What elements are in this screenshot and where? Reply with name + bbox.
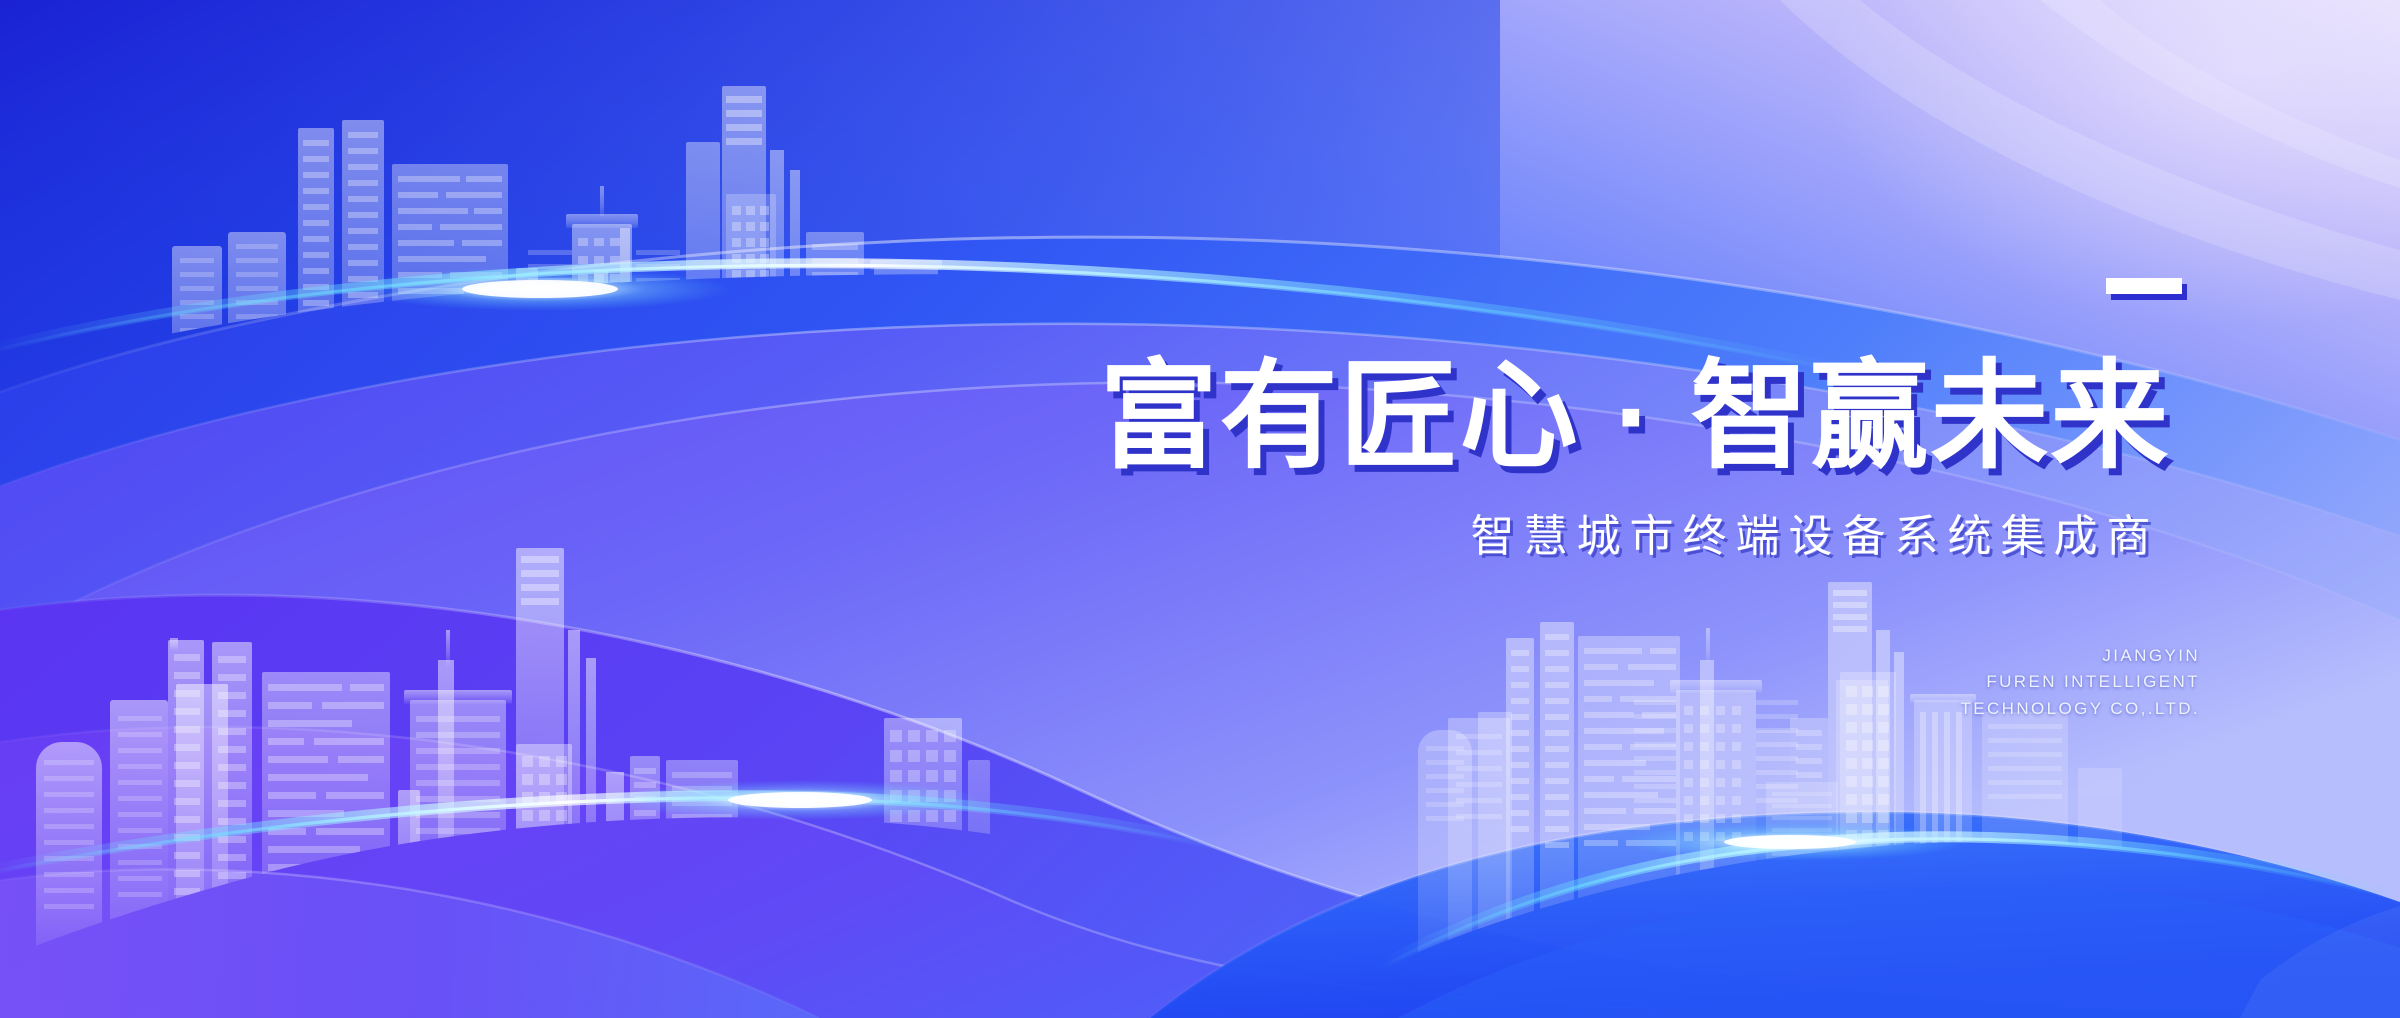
banner-stage: 富有匠心 · 智赢未来 智慧城市终端设备系统集成商 JIANGYIN FUREN… [0, 0, 2400, 1018]
background-artwork [0, 0, 2400, 1018]
